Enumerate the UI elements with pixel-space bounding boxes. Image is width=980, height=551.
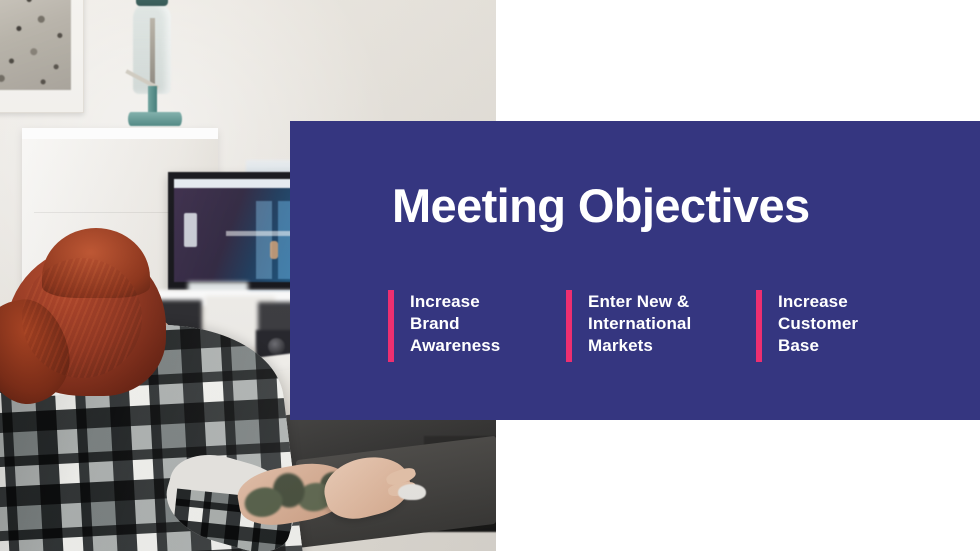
objective-label: Enter New & International Markets <box>588 290 691 357</box>
framed-artwork <box>0 0 84 113</box>
screen-ui-accent <box>270 241 278 259</box>
objective-label: Increase Brand Awareness <box>410 290 500 357</box>
content-panel: Meeting Objectives Increase Brand Awaren… <box>290 121 980 420</box>
objective-label: Increase Customer Base <box>778 290 858 357</box>
objectives-list: Increase Brand Awareness Enter New & Int… <box>388 290 934 362</box>
desk-lamp-cap <box>136 0 168 6</box>
objective-item-1: Increase Brand Awareness <box>388 290 566 362</box>
objective-item-2: Enter New & International Markets <box>566 290 756 362</box>
accent-bar-icon <box>566 290 572 362</box>
desk-lamp-base <box>128 112 182 126</box>
artwork-mat <box>0 0 71 90</box>
desk-lamp-filament <box>150 18 155 84</box>
screen-ui-column <box>256 201 272 279</box>
objective-item-3: Increase Customer Base <box>756 290 934 362</box>
cabinet-top-surface <box>22 128 218 139</box>
artwork-image <box>0 0 71 90</box>
screen-ui-block <box>184 213 197 247</box>
page-title: Meeting Objectives <box>392 178 810 233</box>
accent-bar-icon <box>756 290 762 362</box>
computer-mouse <box>398 484 426 500</box>
accent-bar-icon <box>388 290 394 362</box>
presentation-slide: Meeting Objectives Increase Brand Awaren… <box>0 0 980 551</box>
hair-strand-texture <box>22 258 142 378</box>
